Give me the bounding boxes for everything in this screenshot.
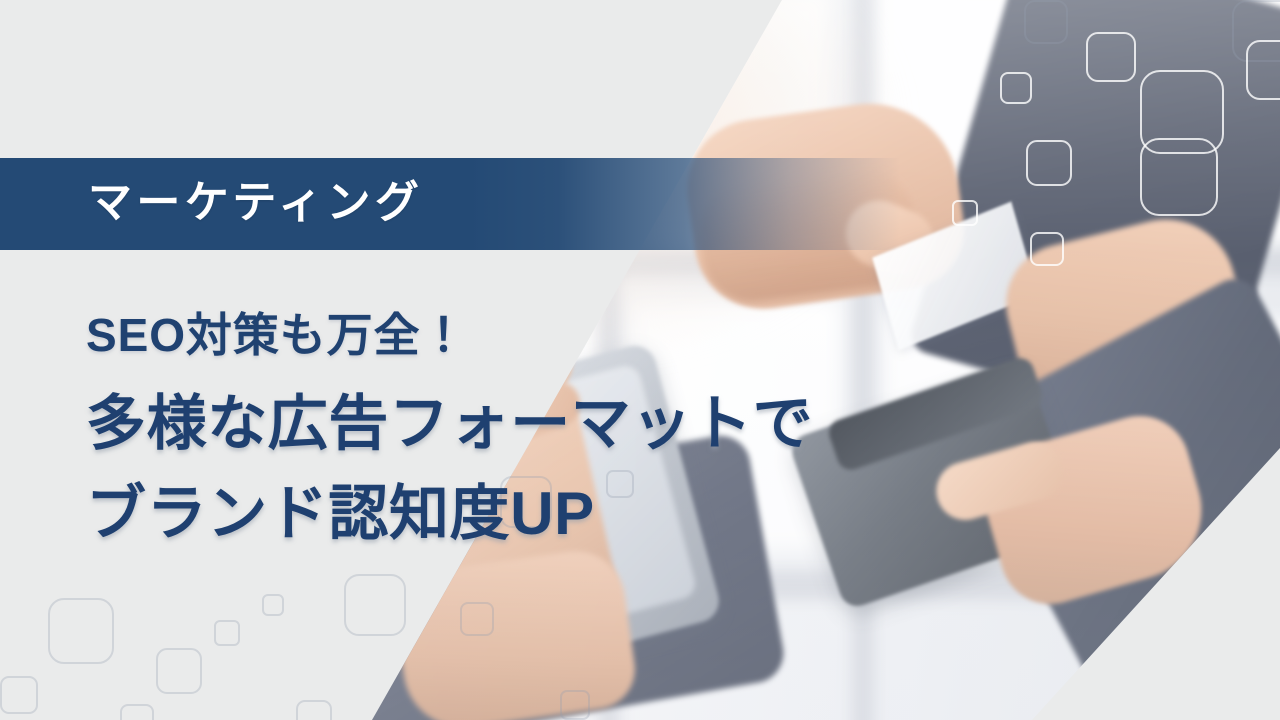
headline-line-2: ブランド認知度UP xyxy=(86,476,595,552)
headline-line-1: 多様な広告フォーマットで xyxy=(86,386,813,462)
headline-group: SEO対策も万全！ 多様な広告フォーマットで ブランド認知度UP xyxy=(0,0,1280,720)
hero-banner: マーケティング SEO対策も万全！ 多様な広告フォーマットで ブランド認知度UP xyxy=(0,0,1280,720)
headline-sub: SEO対策も万全！ xyxy=(86,306,467,364)
